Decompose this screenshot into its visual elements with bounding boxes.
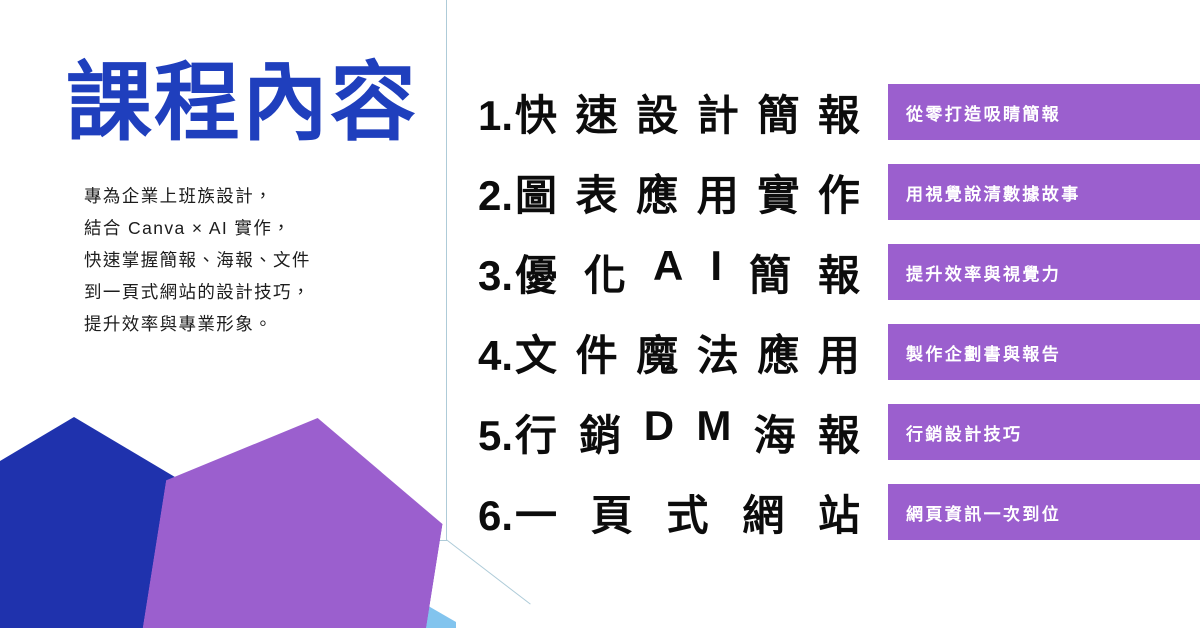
- topic-tag-label: 網頁資訊一次到位: [906, 500, 1061, 525]
- topic-tag-label: 提升效率與視覺力: [906, 260, 1061, 285]
- topic-tag-label: 從零打造吸睛簡報: [906, 100, 1061, 125]
- intro-line: 專為企業上班族設計，: [84, 180, 414, 212]
- topic-tag: 行銷設計技巧: [888, 404, 1200, 460]
- list-item: 2. 圖表應用實作: [478, 162, 860, 242]
- course-list: 1. 快速設計簡報 2. 圖表應用實作 3. 優化AI簡報 4. 文件魔法應用 …: [478, 82, 860, 562]
- slide-canvas: 課程內容 專為企業上班族設計， 結合 Canva × AI 實作， 快速掌握簡報…: [0, 0, 1200, 628]
- list-item: 3. 優化AI簡報: [478, 242, 860, 322]
- topic-tag: 製作企劃書與報告: [888, 324, 1200, 380]
- list-item-number: 3.: [478, 252, 515, 300]
- topic-tag: 提升效率與視覺力: [888, 244, 1200, 300]
- list-item-label: 圖表應用實作: [515, 162, 860, 223]
- topic-tag-label: 行銷設計技巧: [906, 420, 1022, 445]
- list-item-number: 4.: [478, 332, 515, 380]
- list-item-label: 快速設計簡報: [515, 82, 860, 143]
- list-item-label: 行銷DM海報: [515, 402, 860, 463]
- list-item-number: 2.: [478, 172, 515, 220]
- page-title: 課程內容: [66, 58, 418, 149]
- list-item-label: 文件魔法應用: [515, 322, 860, 383]
- list-item: 5. 行銷DM海報: [478, 402, 860, 482]
- list-item-label: 優化AI簡報: [515, 242, 860, 303]
- topic-tag: 網頁資訊一次到位: [888, 484, 1200, 540]
- intro-line: 到一頁式網站的設計技巧，: [84, 276, 414, 308]
- topic-tag: 從零打造吸睛簡報: [888, 84, 1200, 140]
- list-item: 1. 快速設計簡報: [478, 82, 860, 162]
- list-item-number: 1.: [478, 92, 515, 140]
- list-item-label: 一頁式網站: [515, 482, 860, 543]
- list-item: 4. 文件魔法應用: [478, 322, 860, 402]
- intro-line: 提升效率與專業形象。: [84, 308, 414, 340]
- intro-line: 結合 Canva × AI 實作，: [84, 212, 414, 244]
- topic-tag: 用視覺說清數據故事: [888, 164, 1200, 220]
- list-item-number: 6.: [478, 492, 515, 540]
- intro-line: 快速掌握簡報、海報、文件: [84, 244, 414, 276]
- topic-tag-list: 從零打造吸睛簡報 用視覺說清數據故事 提升效率與視覺力 製作企劃書與報告 行銷設…: [888, 84, 1200, 564]
- vertical-divider-line: [446, 0, 447, 541]
- topic-tag-label: 用視覺說清數據故事: [906, 180, 1081, 205]
- list-item: 6. 一頁式網站: [478, 482, 860, 562]
- topic-tag-label: 製作企劃書與報告: [906, 340, 1061, 365]
- list-item-number: 5.: [478, 412, 515, 460]
- intro-paragraph: 專為企業上班族設計， 結合 Canva × AI 實作， 快速掌握簡報、海報、文…: [84, 180, 414, 340]
